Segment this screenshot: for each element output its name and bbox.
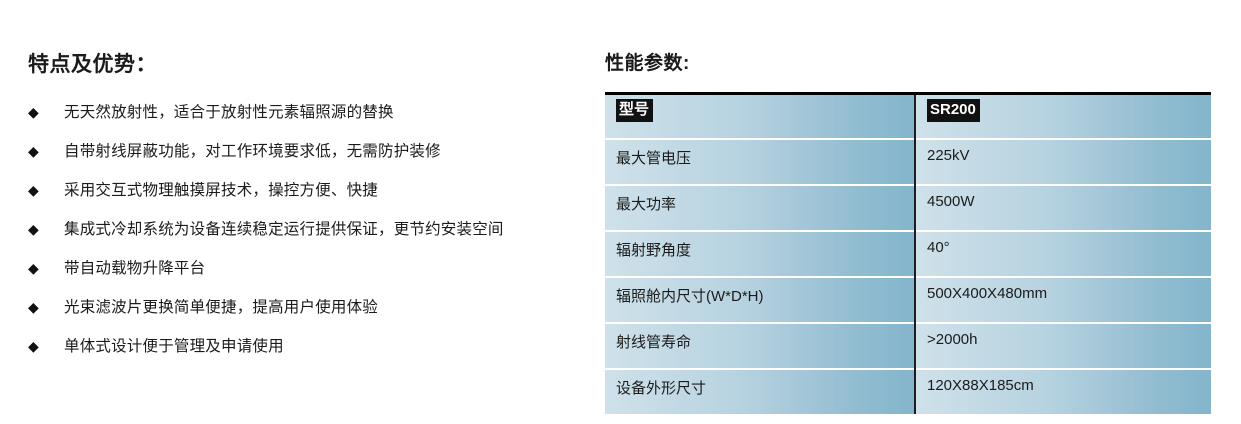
parameter-name: 最大管电压: [605, 140, 914, 184]
table-cell-value: 120X88X185cm: [915, 369, 1211, 414]
table-cell-value: 4500W: [915, 185, 1211, 231]
table-row: 射线管寿命 >2000h: [605, 323, 1211, 369]
specifications-table: 型号 SR200 最大管电压: [605, 92, 1211, 414]
table-cell-parameter: 辐射野角度: [605, 231, 915, 277]
features-list: ◆ 无天然放射性，适合于放射性元素辐照源的替换 ◆ 自带射线屏蔽功能，对工作环境…: [28, 93, 588, 366]
parameter-name: 设备外形尺寸: [605, 370, 914, 414]
feature-text: 采用交互式物理触摸屏技术，操控方便、快捷: [64, 171, 378, 210]
table-cell-parameter: 辐照舱内尺寸(W*D*H): [605, 277, 915, 323]
table-cell-value: >2000h: [915, 323, 1211, 369]
diamond-bullet-icon: ◆: [28, 93, 44, 132]
table-row: 最大功率 4500W: [605, 185, 1211, 231]
parameter-name: 射线管寿命: [605, 324, 914, 368]
feature-text: 自带射线屏蔽功能，对工作环境要求低，无需防护装修: [64, 132, 441, 171]
feature-text: 单体式设计便于管理及申请使用: [64, 327, 284, 366]
list-item: ◆ 无天然放射性，适合于放射性元素辐照源的替换: [28, 93, 588, 132]
table-cell-value: 500X400X480mm: [915, 277, 1211, 323]
header-label-model: SR200: [927, 99, 980, 122]
specifications-heading: 性能参数:: [605, 48, 690, 75]
parameter-value: >2000h: [916, 324, 1211, 368]
parameter-value: 40°: [916, 232, 1211, 276]
table-row: 辐射野角度 40°: [605, 231, 1211, 277]
diamond-bullet-icon: ◆: [28, 132, 44, 171]
table-header-cell-parameter: 型号: [605, 94, 915, 140]
list-item: ◆ 带自动载物升降平台: [28, 249, 588, 288]
parameter-name: 最大功率: [605, 186, 914, 230]
specifications-section: 性能参数: 型号 SR: [600, 0, 1241, 424]
feature-text: 无天然放射性，适合于放射性元素辐照源的替换: [64, 93, 394, 132]
diamond-bullet-icon: ◆: [28, 249, 44, 288]
table-header-row: 型号 SR200: [605, 94, 1211, 140]
parameter-value: 225kV: [916, 140, 1211, 184]
list-item: ◆ 集成式冷却系统为设备连续稳定运行提供保证，更节约安装空间: [28, 210, 588, 249]
parameter-name: 辐照舱内尺寸(W*D*H): [605, 278, 914, 322]
table-header-cell-model: SR200: [915, 94, 1211, 140]
table-cell-parameter: 最大功率: [605, 185, 915, 231]
table-cell-parameter: 射线管寿命: [605, 323, 915, 369]
table-row: 设备外形尺寸 120X88X185cm: [605, 369, 1211, 414]
specifications-table-wrapper: 型号 SR200 最大管电压: [605, 92, 1211, 414]
feature-text: 带自动载物升降平台: [64, 249, 205, 288]
table-cell-parameter: 设备外形尺寸: [605, 369, 915, 414]
feature-text: 光束滤波片更换简单便捷，提高用户使用体验: [64, 288, 378, 327]
list-item: ◆ 自带射线屏蔽功能，对工作环境要求低，无需防护装修: [28, 132, 588, 171]
parameter-value: 500X400X480mm: [916, 278, 1211, 322]
parameter-name: 辐射野角度: [605, 232, 914, 276]
list-item: ◆ 光束滤波片更换简单便捷，提高用户使用体验: [28, 288, 588, 327]
list-item: ◆ 单体式设计便于管理及申请使用: [28, 327, 588, 366]
features-section: 特点及优势： ◆ 无天然放射性，适合于放射性元素辐照源的替换 ◆ 自带射线屏蔽功…: [0, 0, 600, 424]
table-cell-parameter: 最大管电压: [605, 139, 915, 185]
table-row: 最大管电压 225kV: [605, 139, 1211, 185]
diamond-bullet-icon: ◆: [28, 171, 44, 210]
diamond-bullet-icon: ◆: [28, 288, 44, 327]
table-cell-value: 40°: [915, 231, 1211, 277]
table-cell-value: 225kV: [915, 139, 1211, 185]
diamond-bullet-icon: ◆: [28, 327, 44, 366]
product-spec-page: 特点及优势： ◆ 无天然放射性，适合于放射性元素辐照源的替换 ◆ 自带射线屏蔽功…: [0, 0, 1241, 424]
table-row: 辐照舱内尺寸(W*D*H) 500X400X480mm: [605, 277, 1211, 323]
features-heading: 特点及优势：: [28, 48, 157, 78]
parameter-value: 4500W: [916, 186, 1211, 230]
header-label-parameter: 型号: [616, 99, 653, 122]
diamond-bullet-icon: ◆: [28, 210, 44, 249]
parameter-value: 120X88X185cm: [916, 370, 1211, 414]
feature-text: 集成式冷却系统为设备连续稳定运行提供保证，更节约安装空间: [64, 210, 504, 249]
list-item: ◆ 采用交互式物理触摸屏技术，操控方便、快捷: [28, 171, 588, 210]
